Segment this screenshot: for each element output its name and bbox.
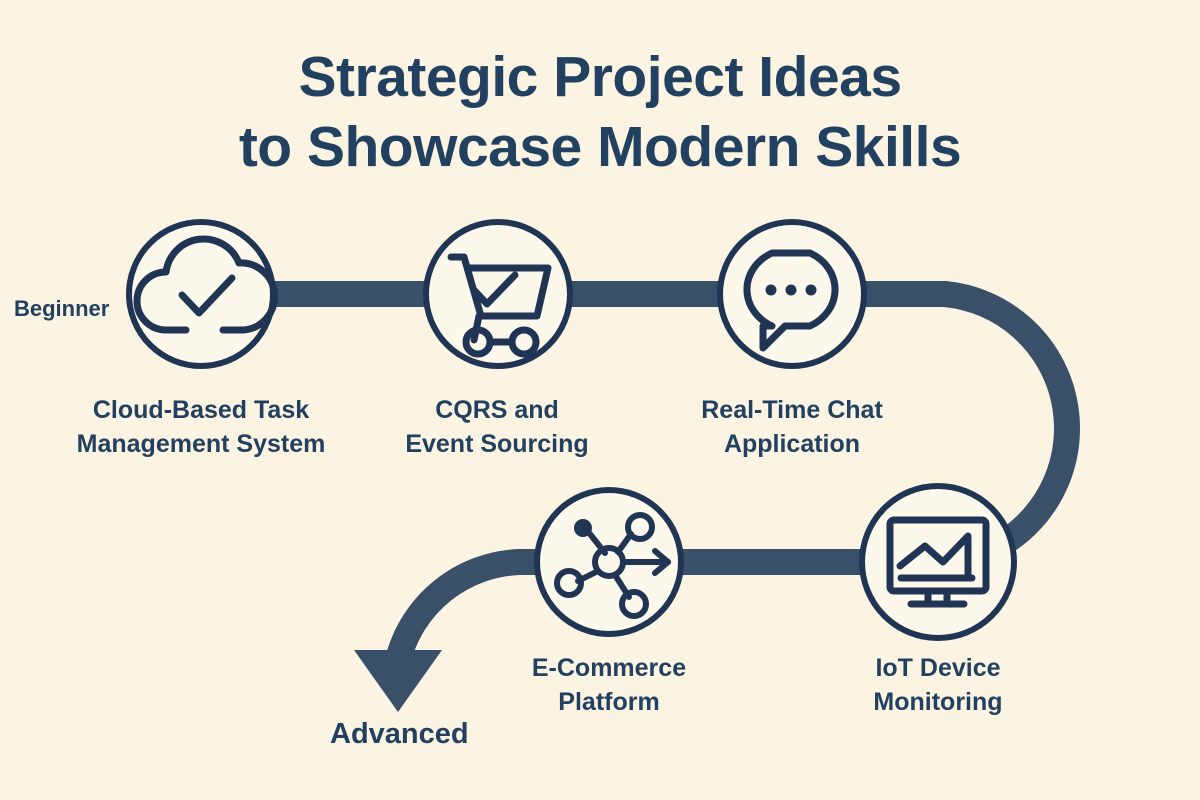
node-label-line-2: Management System xyxy=(31,427,371,461)
node-cloud-based-task-management-system[interactable] xyxy=(129,222,275,366)
node-label-line-1: E-Commerce xyxy=(439,651,779,685)
node-e-commerce-platform[interactable] xyxy=(537,490,681,634)
node-label-line-1: Real-Time Chat xyxy=(622,393,962,427)
node-label-cqrs-and-event-sourcing: CQRS and Event Sourcing xyxy=(327,393,667,461)
node-label-e-commerce-platform: E-Commerce Platform xyxy=(439,651,779,719)
stage-label-advanced: Advanced xyxy=(330,718,469,751)
node-label-cloud-based-task-management-system: Cloud-Based Task Management System xyxy=(31,393,371,461)
node-label-line-1: CQRS and xyxy=(327,393,667,427)
node-label-line-1: IoT Device xyxy=(768,651,1108,685)
infographic-canvas: Strategic Project Ideas to Showcase Mode… xyxy=(0,0,1200,800)
node-label-line-2: Platform xyxy=(439,685,779,719)
node-label-line-2: Monitoring xyxy=(768,685,1108,719)
node-circle xyxy=(129,222,273,366)
title-line-2: to Showcase Modern Skills xyxy=(0,112,1200,182)
node-label-line-2: Application xyxy=(622,427,962,461)
node-label-line-2: Event Sourcing xyxy=(327,427,667,461)
node-iot-device-monitoring[interactable] xyxy=(862,486,1014,638)
connector-iot-to-ecommerce xyxy=(648,549,896,575)
node-label-iot-device-monitoring: IoT Device Monitoring xyxy=(768,651,1108,719)
node-cqrs-and-event-sourcing[interactable] xyxy=(426,222,570,366)
arrowhead-down-icon xyxy=(354,650,442,712)
node-label-real-time-chat-application: Real-Time Chat Application xyxy=(622,393,962,461)
title-line-1: Strategic Project Ideas xyxy=(0,42,1200,112)
page-title: Strategic Project Ideas to Showcase Mode… xyxy=(0,42,1200,182)
node-real-time-chat-application[interactable] xyxy=(720,222,864,366)
stage-label-beginner: Beginner xyxy=(14,296,109,322)
node-label-line-1: Cloud-Based Task xyxy=(31,393,371,427)
